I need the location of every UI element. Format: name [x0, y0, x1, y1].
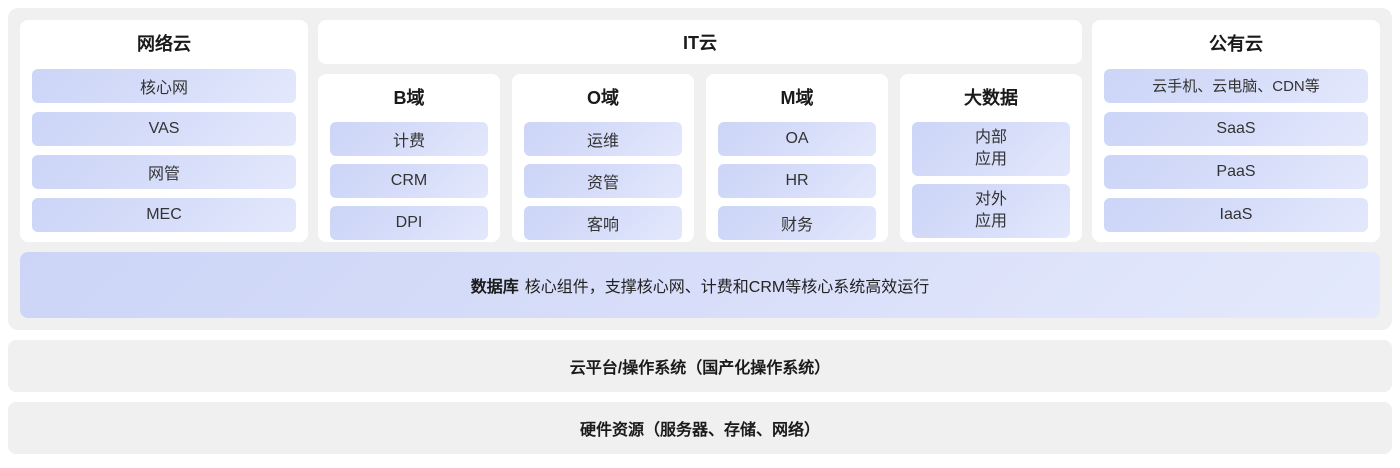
domain-card-m[interactable]: M域 OA HR 财务	[706, 74, 888, 242]
big-data-item[interactable]: 内部 应用	[912, 122, 1070, 176]
network-cloud-title: 网络云	[32, 32, 296, 60]
domain-m-item[interactable]: 财务	[718, 206, 876, 240]
domain-m-item[interactable]: OA	[718, 122, 876, 156]
network-cloud-card[interactable]: 网络云 核心网 VAS 网管 MEC	[20, 20, 308, 242]
it-cloud-header[interactable]: IT云	[318, 20, 1082, 64]
big-data-item-line2: 应用	[975, 211, 1007, 233]
public-cloud-item[interactable]: IaaS	[1104, 198, 1368, 232]
public-cloud-title: 公有云	[1104, 32, 1368, 60]
big-data-item[interactable]: 对外 应用	[912, 184, 1070, 238]
domain-b-title: B域	[330, 86, 488, 114]
database-description: 核心组件，支撑核心网、计费和CRM等核心系统高效运行	[525, 273, 929, 297]
network-cloud-item[interactable]: VAS	[32, 112, 296, 146]
it-cloud-column: IT云 B域 计费 CRM DPI O域 运维 资管 客	[318, 20, 1082, 242]
public-cloud-item[interactable]: PaaS	[1104, 155, 1368, 189]
domain-b-item[interactable]: 计费	[330, 122, 488, 156]
domain-o-item[interactable]: 客响	[524, 206, 682, 240]
domain-card-big-data[interactable]: 大数据 内部 应用 对外 应用	[900, 74, 1082, 242]
network-cloud-item[interactable]: MEC	[32, 198, 296, 232]
domain-o-item[interactable]: 资管	[524, 164, 682, 198]
domain-card-o[interactable]: O域 运维 资管 客响	[512, 74, 694, 242]
network-cloud-item[interactable]: 核心网	[32, 69, 296, 103]
domain-o-item[interactable]: 运维	[524, 122, 682, 156]
platform-os-bar[interactable]: 云平台/操作系统（国产化操作系统）	[8, 340, 1392, 392]
platform-os-label: 云平台/操作系统（国产化操作系统）	[570, 354, 830, 378]
it-cloud-domains-row: B域 计费 CRM DPI O域 运维 资管 客响 M域	[318, 74, 1082, 242]
public-cloud-card[interactable]: 公有云 云手机、云电脑、CDN等 SaaS PaaS IaaS	[1092, 20, 1380, 242]
domain-b-item[interactable]: DPI	[330, 206, 488, 240]
domain-o-title: O域	[524, 86, 682, 114]
database-label: 数据库	[471, 273, 519, 297]
domain-card-b[interactable]: B域 计费 CRM DPI	[318, 74, 500, 242]
public-cloud-item[interactable]: SaaS	[1104, 112, 1368, 146]
big-data-item-line1: 内部	[975, 127, 1007, 149]
database-strip[interactable]: 数据库 核心组件，支撑核心网、计费和CRM等核心系统高效运行	[20, 252, 1380, 318]
network-cloud-item[interactable]: 网管	[32, 155, 296, 189]
big-data-title: 大数据	[912, 86, 1070, 114]
cloud-layer-container: 网络云 核心网 VAS 网管 MEC IT云 B域 计费 CRM DPI	[8, 8, 1392, 330]
public-cloud-item[interactable]: 云手机、云电脑、CDN等	[1104, 69, 1368, 103]
hardware-resource-bar[interactable]: 硬件资源（服务器、存储、网络）	[8, 402, 1392, 454]
big-data-item-line2: 应用	[975, 149, 1007, 171]
domain-b-item[interactable]: CRM	[330, 164, 488, 198]
hardware-resource-label: 硬件资源（服务器、存储、网络）	[580, 416, 820, 440]
cloud-columns-row: 网络云 核心网 VAS 网管 MEC IT云 B域 计费 CRM DPI	[20, 20, 1380, 242]
it-cloud-title: IT云	[683, 29, 717, 55]
domain-m-title: M域	[718, 86, 876, 114]
architecture-diagram: 网络云 核心网 VAS 网管 MEC IT云 B域 计费 CRM DPI	[0, 0, 1400, 468]
domain-m-item[interactable]: HR	[718, 164, 876, 198]
big-data-item-line1: 对外	[975, 189, 1007, 211]
